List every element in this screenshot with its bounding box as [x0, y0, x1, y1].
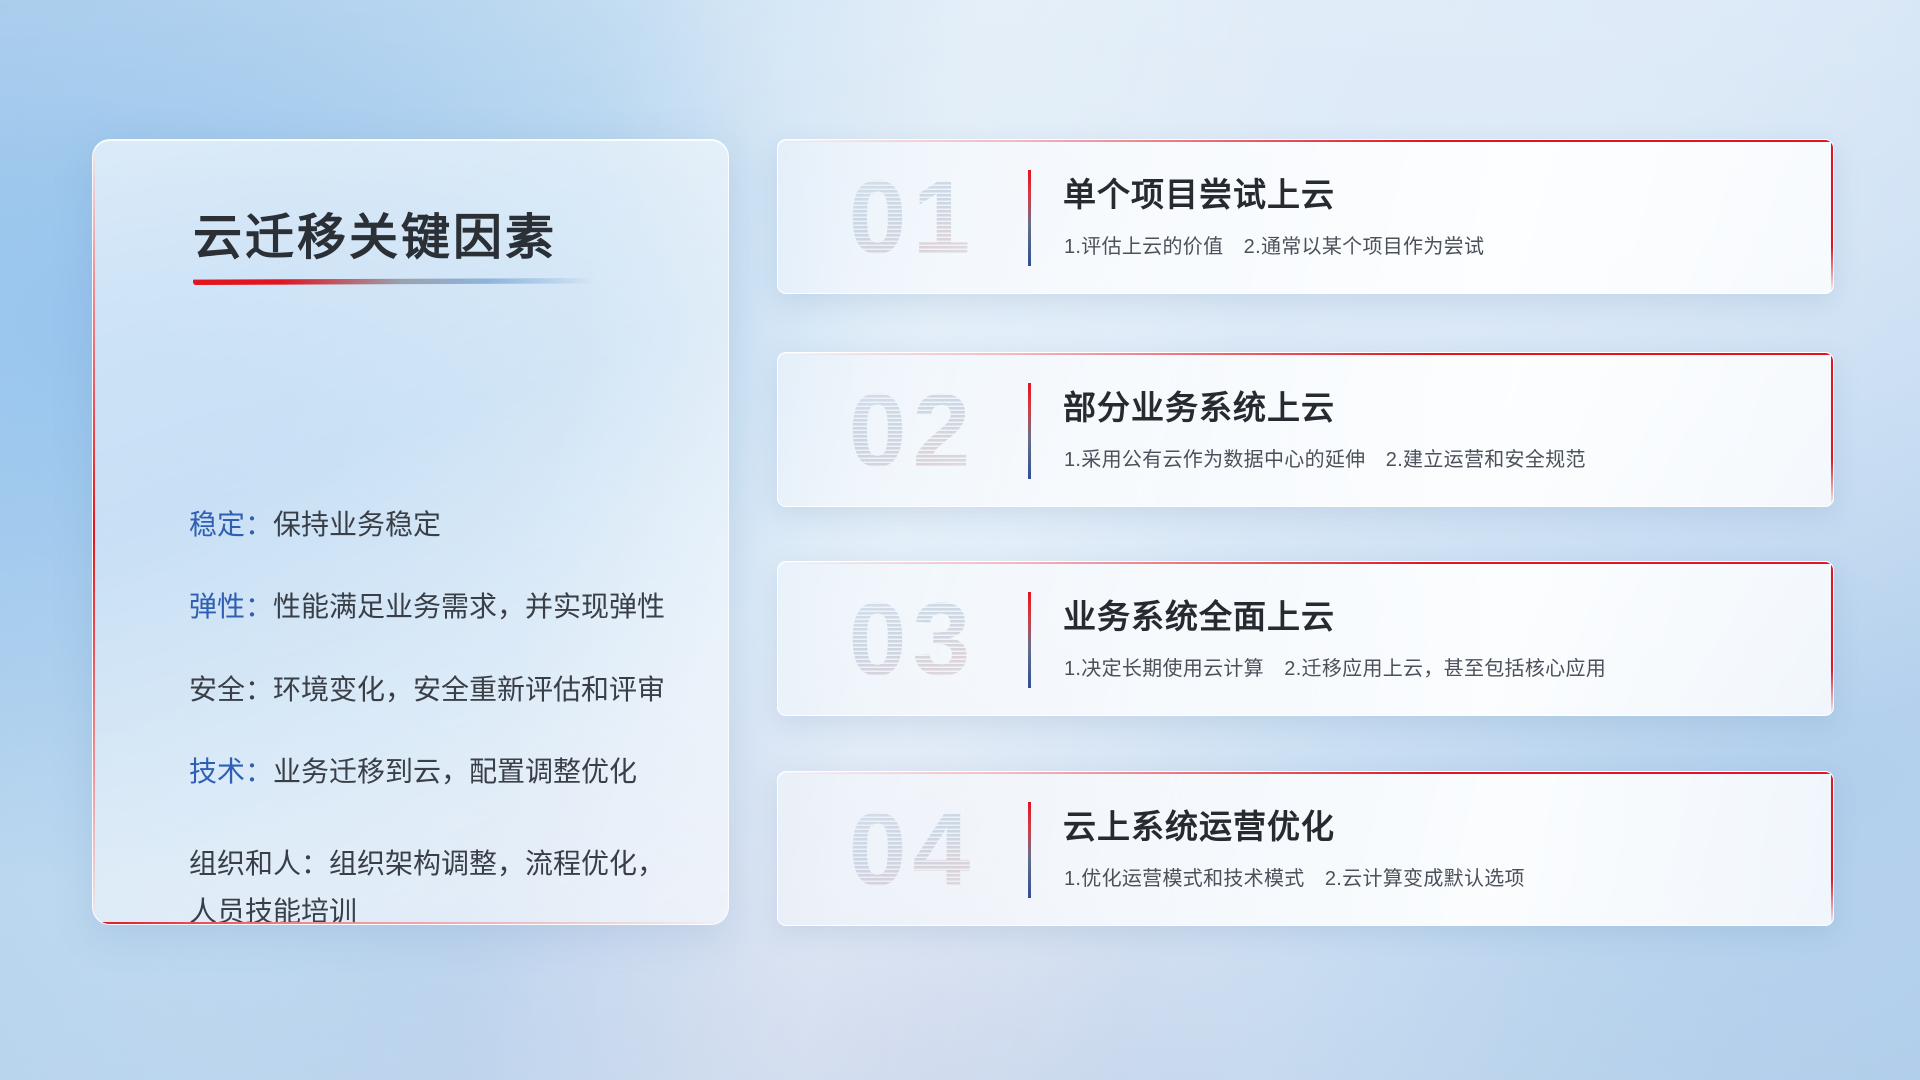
- list-item: 组织和人：组织架构调整，流程优化，人员技能培训: [189, 840, 688, 925]
- step-number-04: 04: [810, 794, 1015, 906]
- step-accent-bar: [1028, 802, 1031, 898]
- list-item: 安全：环境变化，安全重新评估和评审: [189, 675, 688, 704]
- list-item: 弹性：性能满足业务需求，并实现弹性: [189, 592, 688, 621]
- list-item-value: 环境变化，安全重新评估和评审: [273, 674, 665, 705]
- page-title: 云迁移关键因素: [193, 198, 557, 269]
- step-accent-bar: [1028, 592, 1031, 688]
- step-number-02: 02: [810, 375, 1015, 487]
- key-factors-card: 云迁移关键因素 稳定：保持业务稳定 弹性：性能满足业务需求，并实现弹性 安全：环…: [92, 139, 729, 925]
- list-item-value: 业务迁移到云，配置调整优化: [273, 756, 637, 787]
- step-accent-bar: [1028, 383, 1031, 479]
- step-description: 1.评估上云的价值 2.通常以某个项目作为尝试: [1064, 230, 1484, 259]
- step-description: 1.优化运营模式和技术模式 2.云计算变成默认选项: [1064, 862, 1525, 891]
- step-description: 1.决定长期使用云计算 2.迁移应用上云，甚至包括核心应用: [1064, 652, 1606, 681]
- step-card-02[interactable]: 02 部分业务系统上云 1.采用公有云作为数据中心的延伸 2.建立运营和安全规范: [777, 352, 1834, 507]
- step-title: 单个项目尝试上云: [1063, 168, 1335, 216]
- step-number-03: 03: [810, 584, 1015, 696]
- slide-stage: 云迁移关键因素 稳定：保持业务稳定 弹性：性能满足业务需求，并实现弹性 安全：环…: [0, 0, 1920, 1080]
- key-factors-list: 稳定：保持业务稳定 弹性：性能满足业务需求，并实现弹性 安全：环境变化，安全重新…: [189, 510, 688, 925]
- list-item: 稳定：保持业务稳定: [189, 510, 688, 539]
- step-card-03[interactable]: 03 业务系统全面上云 1.决定长期使用云计算 2.迁移应用上云，甚至包括核心应…: [777, 561, 1834, 716]
- step-title: 云上系统运营优化: [1063, 800, 1335, 848]
- list-item-label: 稳定：: [189, 509, 273, 540]
- list-item-label: 安全：: [189, 674, 273, 705]
- step-title: 业务系统全面上云: [1063, 590, 1335, 638]
- step-description: 1.采用公有云作为数据中心的延伸 2.建立运营和安全规范: [1064, 443, 1586, 472]
- list-item-label: 技术：: [189, 756, 273, 787]
- step-card-01[interactable]: 01 单个项目尝试上云 1.评估上云的价值 2.通常以某个项目作为尝试: [777, 139, 1834, 294]
- list-item-value: 性能满足业务需求，并实现弹性: [273, 591, 665, 622]
- step-number-01: 01: [810, 162, 1015, 274]
- step-accent-bar: [1028, 170, 1031, 266]
- list-item: 技术：业务迁移到云，配置调整优化: [189, 757, 688, 786]
- title-underline-accent: [193, 278, 593, 285]
- list-item-value: 保持业务稳定: [273, 509, 441, 540]
- list-item-label: 弹性：: [189, 591, 273, 622]
- step-title: 部分业务系统上云: [1063, 381, 1335, 429]
- list-item-label: 组织和人：: [189, 848, 329, 879]
- step-card-04[interactable]: 04 云上系统运营优化 1.优化运营模式和技术模式 2.云计算变成默认选项: [777, 771, 1834, 926]
